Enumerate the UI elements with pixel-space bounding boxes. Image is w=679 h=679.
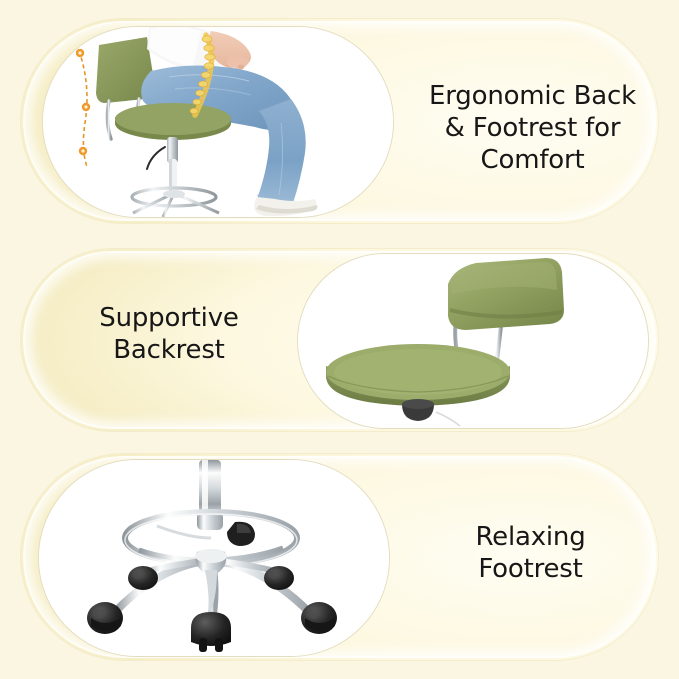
seated-person-illustration <box>43 27 393 217</box>
infographic-page: Ergonomic Back & Footrest for Comfort Su… <box>0 0 679 679</box>
stool-with-backrest-illustration <box>298 254 648 428</box>
product-photo-stool-with-backrest <box>297 253 649 429</box>
feature-panel-supportive-backrest: Supportive Backrest <box>20 248 659 432</box>
feature-caption-supportive-backrest: Supportive Backrest <box>44 302 294 366</box>
feature-caption-relaxing-footrest: Relaxing Footrest <box>398 521 659 585</box>
product-photo-seated-person <box>42 26 394 218</box>
product-photo-base-casters-footrest <box>38 459 390 657</box>
feature-panel-ergonomic-back-footrest: Ergonomic Back & Footrest for Comfort <box>20 18 659 224</box>
feature-panel-relaxing-footrest: Relaxing Footrest <box>20 453 659 661</box>
feature-caption-ergonomic-back-footrest: Ergonomic Back & Footrest for Comfort <box>400 80 659 177</box>
chrome-base-footrest-illustration <box>39 460 389 656</box>
